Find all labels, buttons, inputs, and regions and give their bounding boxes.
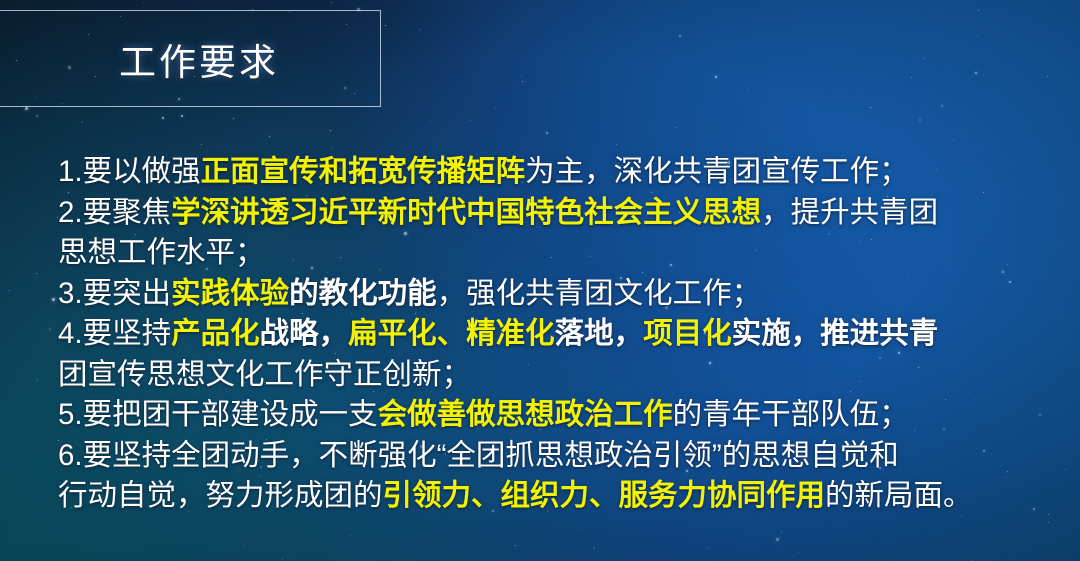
body-text-run: 行动自觉，努力形成团的: [58, 479, 383, 512]
highlighted-text: 扁平化、精准化: [348, 317, 555, 350]
highlighted-text: 实践体验: [171, 277, 289, 310]
list-number: 3.: [58, 277, 83, 310]
slide-body-text: 1.要以做强正面宣传和拓宽传播矩阵为主，深化共青团宣传工作；2.要聚焦学深讲透习…: [58, 152, 1020, 517]
body-text-run: 的青年干部队伍；: [673, 398, 909, 431]
body-text-run: 要突出: [83, 277, 172, 310]
body-text-run: 团宣传思想文化工作守正创新；: [58, 358, 471, 391]
body-line: 1.要以做强正面宣传和拓宽传播矩阵为主，深化共青团宣传工作；: [58, 152, 1020, 193]
body-text-run: 思想工作水平；: [58, 236, 265, 269]
body-text-run: 落地，: [555, 317, 644, 350]
body-line: 团宣传思想文化工作守正创新；: [58, 355, 1020, 396]
highlighted-text: 学深讲透习近平新时代中国特色社会主义思想: [171, 196, 761, 229]
body-line: 思想工作水平；: [58, 233, 1020, 274]
slide-title-box: 工作要求: [0, 10, 381, 107]
body-line: 3.要突出实践体验的教化功能，强化共青团文化工作；: [58, 274, 1020, 315]
highlighted-text: 项目化: [643, 317, 732, 350]
highlighted-text: 引领力、组织力、服务力协同作用: [383, 479, 826, 512]
body-text-run: 要把团干部建设成一支: [83, 398, 378, 431]
body-text-run: 为主，深化共青团宣传工作；: [525, 155, 909, 188]
list-number: 1.: [58, 155, 83, 188]
list-number: 5.: [58, 398, 83, 431]
body-text-run: ，提升共青团: [761, 196, 938, 229]
body-text-run: 战略，: [260, 317, 349, 350]
highlighted-text: 产品化: [171, 317, 260, 350]
page-title: 工作要求: [119, 32, 279, 86]
body-text-run: ，强化共青团文化工作；: [437, 277, 762, 310]
body-text-run: 要聚焦: [83, 196, 172, 229]
body-text-run: 的新局面。: [825, 479, 973, 512]
body-line: 4.要坚持产品化战略，扁平化、精准化落地，项目化实施，推进共青: [58, 314, 1020, 355]
list-number: 4.: [58, 317, 83, 350]
body-text-run: 要坚持: [83, 317, 172, 350]
highlighted-text: 正面宣传和拓宽传播矩阵: [201, 155, 526, 188]
body-text-run: 要坚持全团动手，不断强化“全团抓思想政治引领”的思想自觉和: [83, 439, 899, 472]
body-line: 2.要聚焦学深讲透习近平新时代中国特色社会主义思想，提升共青团: [58, 193, 1020, 234]
body-line: 行动自觉，努力形成团的引领力、组织力、服务力协同作用的新局面。: [58, 476, 1020, 517]
body-text-run: 实施，推进共青: [732, 317, 939, 350]
body-line: 6.要坚持全团动手，不断强化“全团抓思想政治引领”的思想自觉和: [58, 436, 1020, 477]
presentation-slide: 工作要求 1.要以做强正面宣传和拓宽传播矩阵为主，深化共青团宣传工作；2.要聚焦…: [0, 0, 1080, 561]
list-number: 6.: [58, 439, 83, 472]
body-line: 5.要把团干部建设成一支会做善做思想政治工作的青年干部队伍；: [58, 395, 1020, 436]
highlighted-text: 会做善做思想政治工作: [378, 398, 673, 431]
list-number: 2.: [58, 196, 83, 229]
body-text-run: 要以做强: [83, 155, 201, 188]
body-text-run: 的教化功能: [289, 277, 437, 310]
